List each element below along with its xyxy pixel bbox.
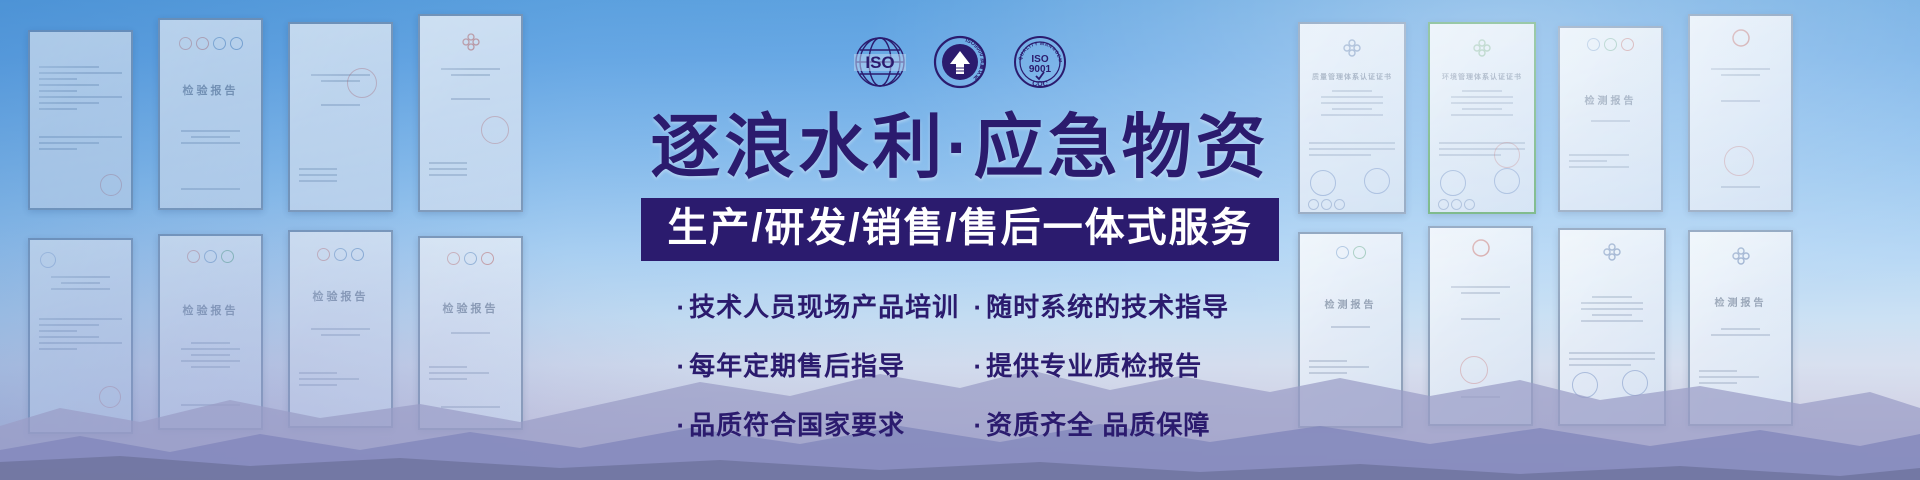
bullet-icon: · <box>974 410 984 440</box>
feature-item: ·资质齐全 品质保障 <box>974 405 1244 442</box>
page-title: 逐浪水利·应急物资 <box>650 112 1269 182</box>
certificate-tile: 质量管理体系认证证书 <box>1298 22 1406 214</box>
feature-label: 品质符合国家要求 <box>689 410 905 440</box>
feature-item: ·技术人员现场产品培训 <box>677 287 962 324</box>
certificate-tile <box>1558 228 1666 426</box>
iso-badge-group: ISO ISO9000 质量认证 QUALITY MANAGEMENT <box>852 34 1068 90</box>
feature-item: ·提供专业质检报告 <box>974 346 1244 383</box>
bullet-icon: · <box>974 292 984 322</box>
certificate-tile: 检测报告 <box>1298 232 1403 428</box>
svg-text:CQC: CQC <box>1032 81 1048 88</box>
certificate-tile: 检验报告 <box>418 236 523 430</box>
certificate-tile <box>1428 226 1533 426</box>
feature-list: ·技术人员现场产品培训 ·随时系统的技术指导 ·每年定期售后指导 ·提供专业质检… <box>677 287 1244 442</box>
bullet-icon: · <box>677 292 687 322</box>
bullet-icon: · <box>974 351 984 381</box>
iso-globe-badge-icon[interactable]: ISO <box>852 34 908 90</box>
bullet-icon: · <box>677 410 687 440</box>
certificate-tile <box>1688 14 1793 212</box>
certificate-tile <box>288 22 393 212</box>
bullet-icon: · <box>677 351 687 381</box>
feature-label: 技术人员现场产品培训 <box>689 292 959 322</box>
feature-label: 随时系统的技术指导 <box>986 292 1229 322</box>
feature-item: ·随时系统的技术指导 <box>974 287 1244 324</box>
certificate-tile: 检测报告 <box>1688 230 1793 426</box>
subtitle-banner: 生产/研发/销售/售后一体式服务 <box>641 198 1278 261</box>
svg-text:9001: 9001 <box>1029 64 1052 75</box>
svg-text:ISO: ISO <box>865 53 894 72</box>
promo-banner: 检验报告 <box>0 0 1920 480</box>
feature-label: 提供专业质检报告 <box>986 351 1202 381</box>
feature-item: ·品质符合国家要求 <box>677 405 962 442</box>
feature-label: 每年定期售后指导 <box>689 351 905 381</box>
certificate-tile <box>28 30 133 210</box>
certificate-tile: 环境管理体系认证证书 <box>1428 22 1536 214</box>
certificate-tile <box>28 238 133 434</box>
iso9001-cqc-badge-icon[interactable]: QUALITY MANAGEMENT ISO 9001 CQC <box>1012 34 1068 90</box>
certificate-tile: 检验报告 <box>288 230 393 428</box>
iso9000-seal-badge-icon[interactable]: ISO9000 质量认证 <box>932 34 988 90</box>
feature-label: 资质齐全 品质保障 <box>986 410 1210 440</box>
certificate-tile: 检验报告 <box>158 18 263 210</box>
certificate-tile: 检验报告 <box>158 234 263 430</box>
feature-item: ·每年定期售后指导 <box>677 346 962 383</box>
certificate-tile <box>418 14 523 212</box>
certificate-tile: 检测报告 <box>1558 26 1663 212</box>
